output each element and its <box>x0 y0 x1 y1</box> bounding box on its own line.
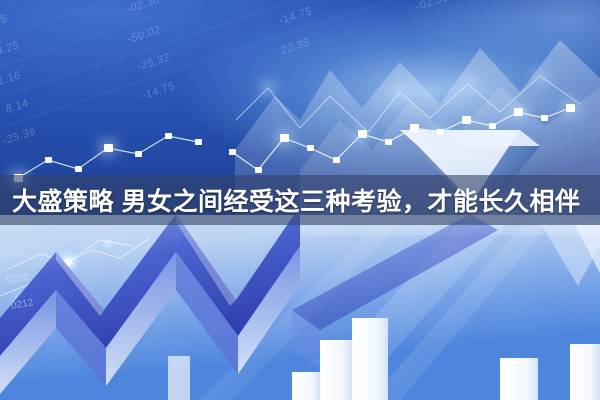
title-band: 大盛策略 男女之间经受这三种考验，才能长久相伴 <box>0 175 600 225</box>
page-title: 大盛策略 男女之间经受这三种考验，才能长久相伴 <box>0 182 580 218</box>
banner-image: -04.95 -2.26 -11.25 -45.02 21.02 -1.25 -… <box>0 0 600 400</box>
three-d-arrow-lower <box>540 222 600 286</box>
